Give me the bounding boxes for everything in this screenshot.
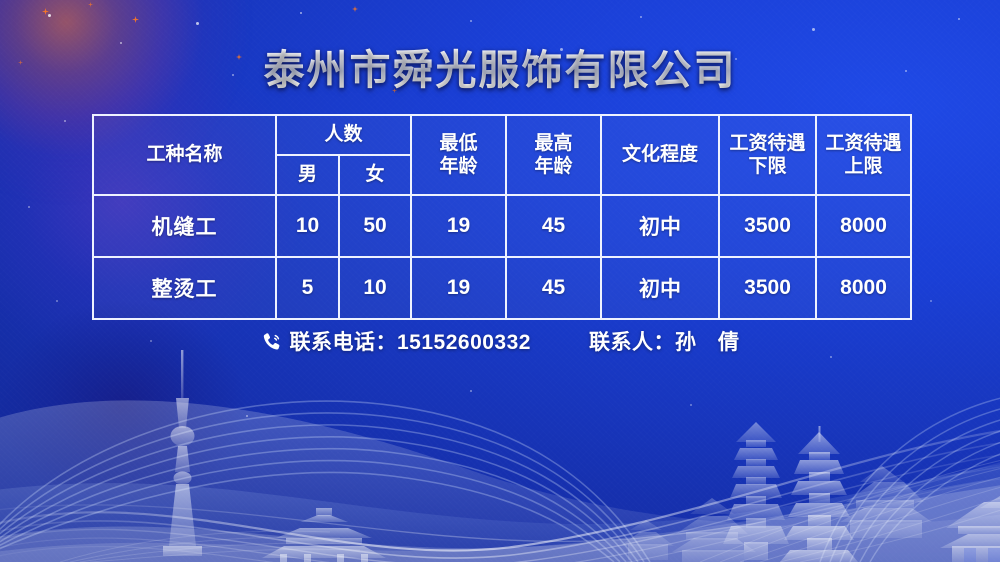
cell-min-age: 19 bbox=[411, 257, 506, 319]
cell-salary-high: 8000 bbox=[816, 195, 911, 257]
header-salary-high-line1: 工资待遇 bbox=[818, 132, 909, 155]
cell-education: 初中 bbox=[601, 257, 719, 319]
job-table-container: 工种名称 人数 最低 年龄 最高 年龄 文化程度 工资待遇 下限 bbox=[92, 114, 910, 320]
table-header: 工种名称 人数 最低 年龄 最高 年龄 文化程度 工资待遇 下限 bbox=[93, 115, 911, 195]
header-row-1: 工种名称 人数 最低 年龄 最高 年龄 文化程度 工资待遇 下限 bbox=[93, 115, 911, 155]
header-max-age-line2: 年龄 bbox=[508, 155, 599, 178]
cell-male: 10 bbox=[276, 195, 339, 257]
header-female: 女 bbox=[339, 155, 411, 195]
cell-female: 10 bbox=[339, 257, 411, 319]
contact-line: 联系电话：15152600332联系人：孙 倩 bbox=[0, 326, 1000, 356]
cell-salary-low: 3500 bbox=[719, 195, 816, 257]
header-salary-low: 工资待遇 下限 bbox=[719, 115, 816, 195]
cell-job-name: 机缝工 bbox=[93, 195, 276, 257]
contact-phone-label: 联系电话：15152600332 bbox=[290, 331, 531, 354]
table-body: 机缝工 10 50 19 45 初中 3500 8000 整烫工 5 10 19… bbox=[93, 195, 911, 319]
header-max-age: 最高 年龄 bbox=[506, 115, 601, 195]
cell-salary-low: 3500 bbox=[719, 257, 816, 319]
table-row: 整烫工 5 10 19 45 初中 3500 8000 bbox=[93, 257, 911, 319]
cell-salary-high: 8000 bbox=[816, 257, 911, 319]
job-table: 工种名称 人数 最低 年龄 最高 年龄 文化程度 工资待遇 下限 bbox=[92, 114, 912, 320]
header-min-age: 最低 年龄 bbox=[411, 115, 506, 195]
phone-icon bbox=[261, 331, 283, 353]
cell-education: 初中 bbox=[601, 195, 719, 257]
header-salary-low-line1: 工资待遇 bbox=[721, 132, 814, 155]
recruitment-poster: 泰州市舜光服饰有限公司 工种名称 人数 最低 年龄 最高 年 bbox=[0, 0, 1000, 562]
header-male: 男 bbox=[276, 155, 339, 195]
cell-female: 50 bbox=[339, 195, 411, 257]
header-min-age-line2: 年龄 bbox=[413, 155, 504, 178]
city-skyline-decoration bbox=[0, 332, 1000, 562]
page-title: 泰州市舜光服饰有限公司 bbox=[0, 36, 1000, 96]
cell-male: 5 bbox=[276, 257, 339, 319]
cell-min-age: 19 bbox=[411, 195, 506, 257]
header-job-name: 工种名称 bbox=[93, 115, 276, 195]
header-min-age-line1: 最低 bbox=[413, 132, 504, 155]
header-salary-low-line2: 下限 bbox=[721, 155, 814, 178]
header-salary-high: 工资待遇 上限 bbox=[816, 115, 911, 195]
header-education: 文化程度 bbox=[601, 115, 719, 195]
header-headcount: 人数 bbox=[276, 115, 411, 155]
table-row: 机缝工 10 50 19 45 初中 3500 8000 bbox=[93, 195, 911, 257]
contact-person-label: 联系人：孙 倩 bbox=[589, 331, 740, 354]
header-salary-high-line2: 上限 bbox=[818, 155, 909, 178]
cell-max-age: 45 bbox=[506, 257, 601, 319]
cell-job-name: 整烫工 bbox=[93, 257, 276, 319]
cell-max-age: 45 bbox=[506, 195, 601, 257]
header-max-age-line1: 最高 bbox=[508, 132, 599, 155]
